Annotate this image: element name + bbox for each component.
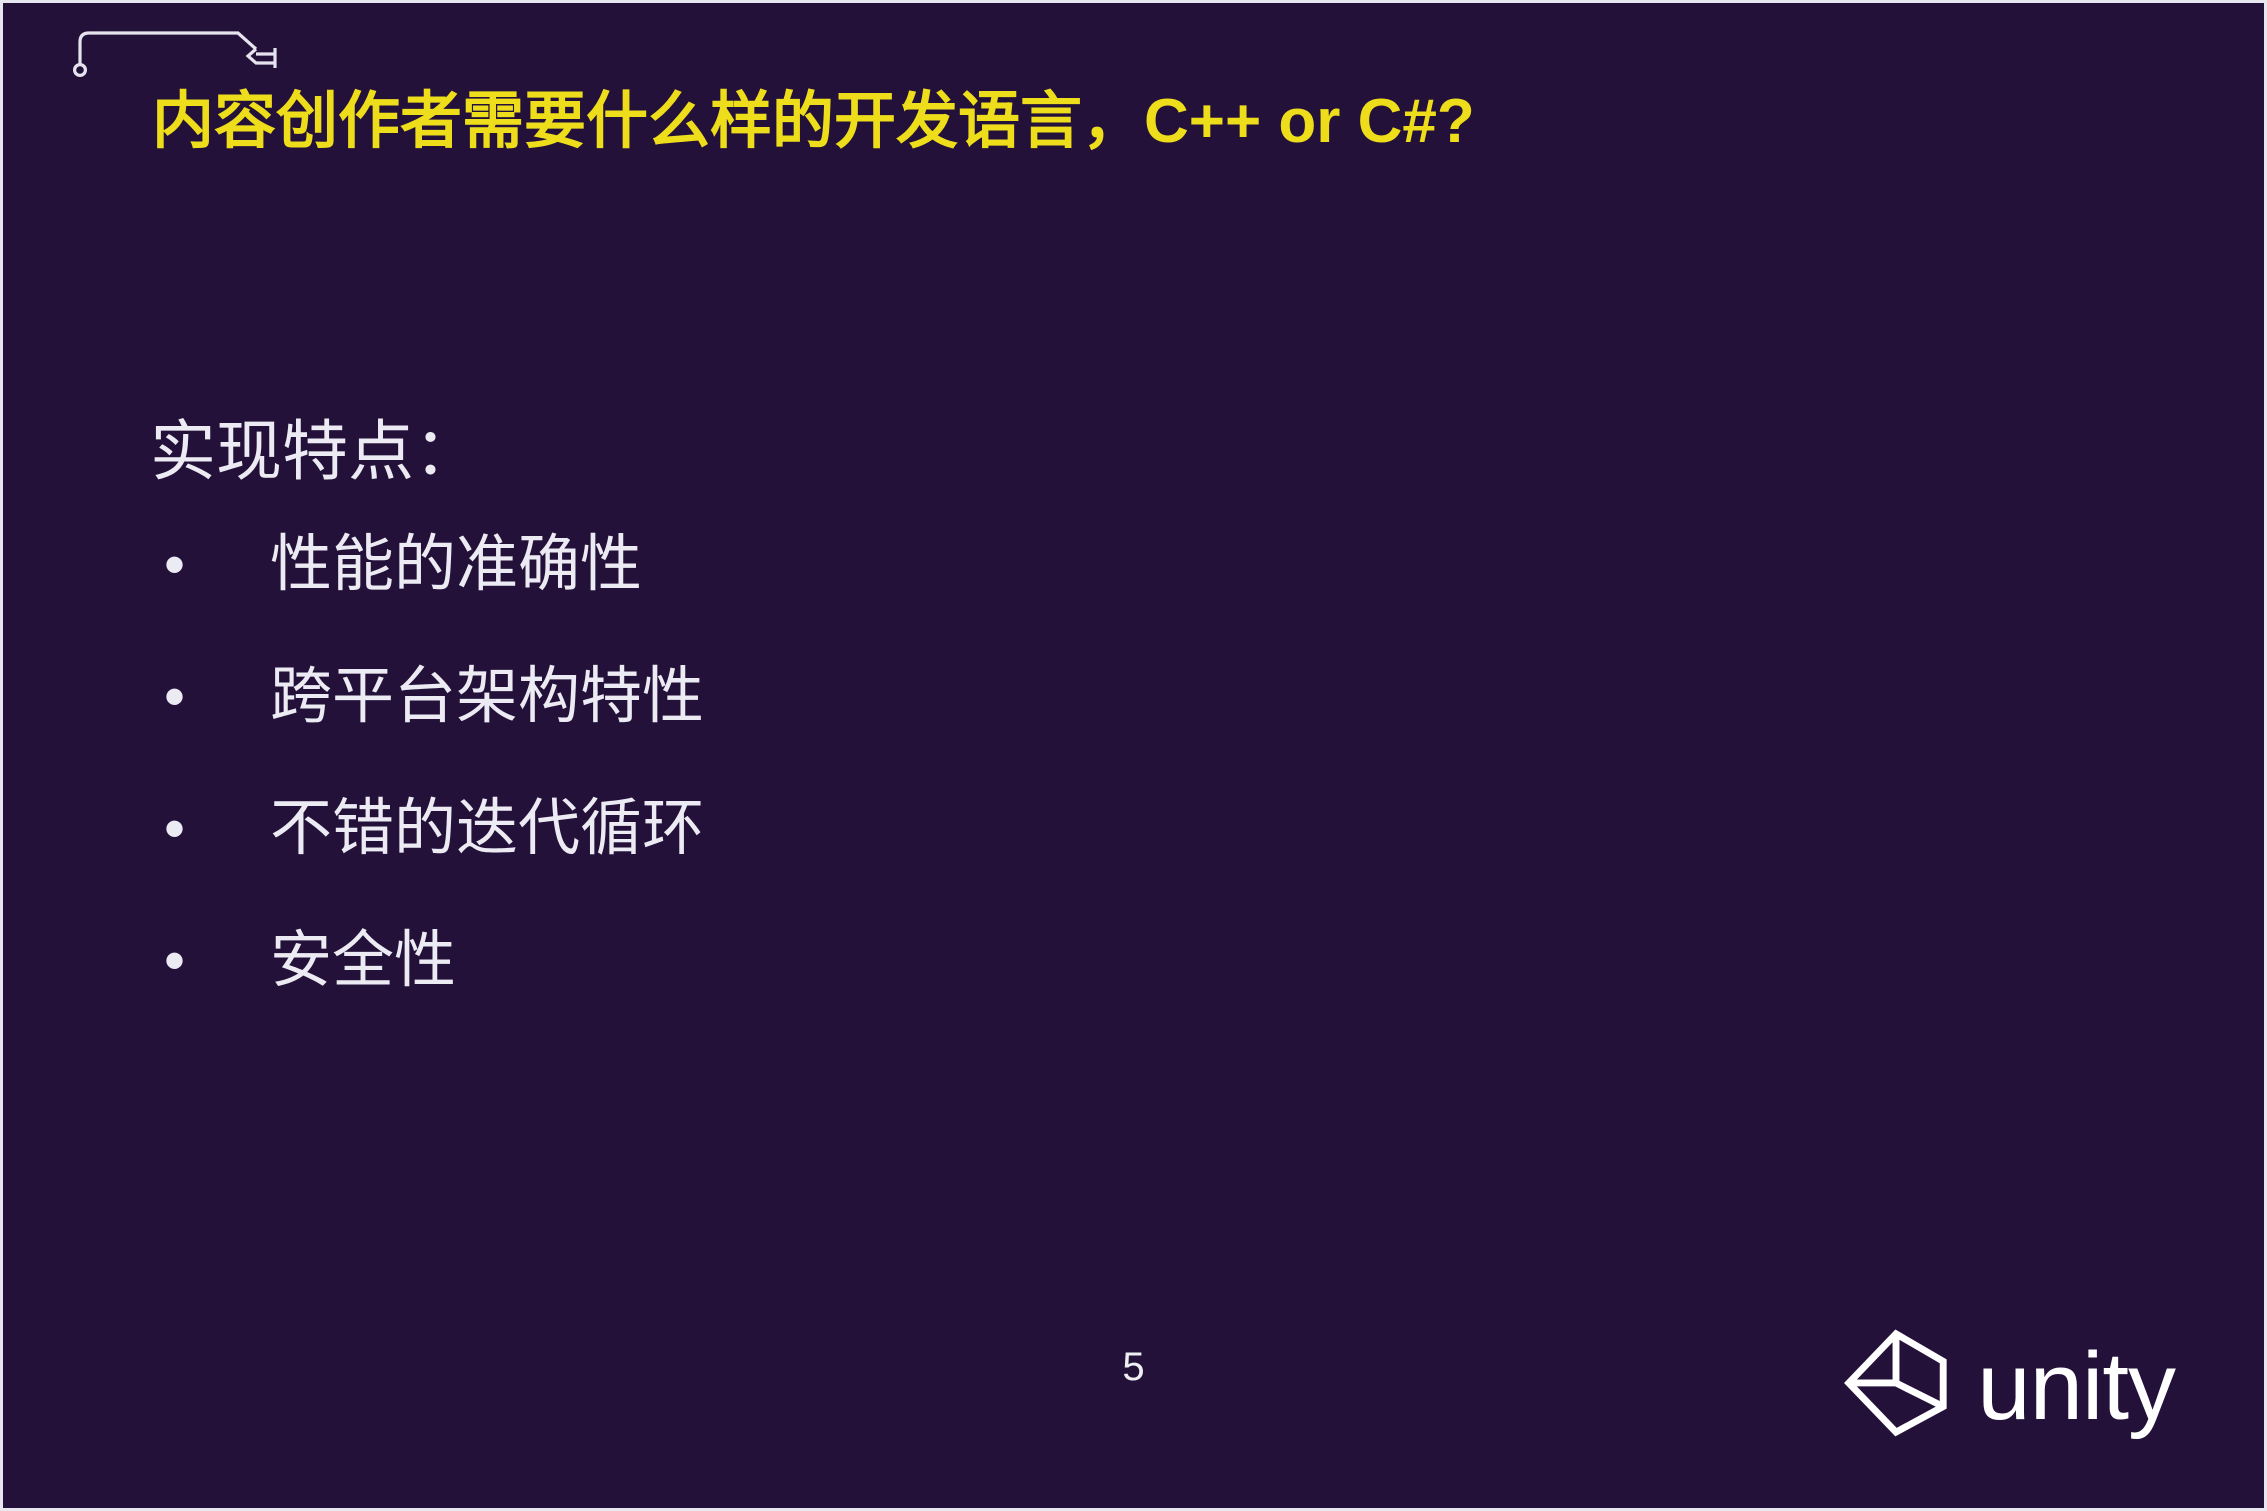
decorative-line-svg bbox=[70, 18, 310, 78]
list-item-label: 不错的迭代循环 bbox=[270, 781, 704, 877]
list-item: • 跨平台架构特性 bbox=[150, 649, 1850, 745]
decorative-line-graphic bbox=[70, 18, 310, 78]
list-item-label: 性能的准确性 bbox=[270, 517, 642, 613]
page-title: 内容创作者需要什么样的开发语言，C++ or C#? bbox=[152, 88, 1475, 156]
list-item: • 性能的准确性 bbox=[150, 517, 1850, 613]
content-body: 实现特点： • 性能的准确性 • 跨平台架构特性 • 不错的迭代循环 • 安全性 bbox=[150, 410, 1850, 1045]
bullet-marker-icon: • bbox=[150, 649, 270, 745]
list-item-label: 跨平台架构特性 bbox=[270, 649, 704, 745]
list-item: • 不错的迭代循环 bbox=[150, 781, 1850, 877]
section-lead: 实现特点： bbox=[150, 410, 1850, 493]
bullet-marker-icon: • bbox=[150, 517, 270, 613]
list-item-label: 安全性 bbox=[270, 913, 456, 1009]
bullet-list: • 性能的准确性 • 跨平台架构特性 • 不错的迭代循环 • 安全性 bbox=[150, 517, 1850, 1009]
unity-wordmark: unity bbox=[1977, 1339, 2175, 1435]
unity-cube-icon bbox=[1837, 1322, 1955, 1440]
bullet-marker-icon: • bbox=[150, 781, 270, 877]
slide-canvas: 内容创作者需要什么样的开发语言，C++ or C#? 实现特点： • 性能的准确… bbox=[0, 0, 2267, 1511]
list-item: • 安全性 bbox=[150, 913, 1850, 1009]
bullet-marker-icon: • bbox=[150, 913, 270, 1009]
unity-logo: unity bbox=[1837, 1322, 2175, 1440]
